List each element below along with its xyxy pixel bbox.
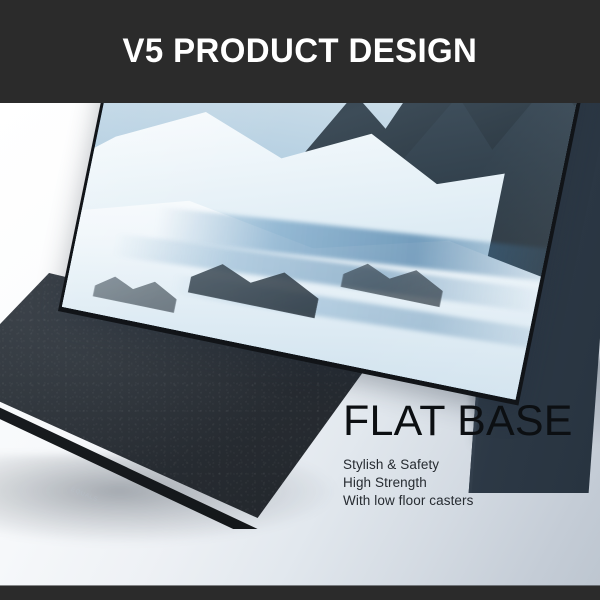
product-banner-page: V5 PRODUCT DESIGN EQUALS (0, 0, 600, 600)
feature-item-3: With low floor casters (343, 492, 583, 510)
header-banner: V5 PRODUCT DESIGN (0, 0, 600, 103)
feature-callout: FLAT BASE Stylish & Safety High Strength… (343, 400, 583, 510)
feature-headline: FLAT BASE (343, 400, 583, 443)
product-photo: EQUALS FLAT BASE (0, 103, 600, 586)
feature-item-2: High Strength (343, 474, 583, 492)
footer-strip (0, 586, 600, 600)
page-title: V5 PRODUCT DESIGN (123, 32, 478, 71)
feature-item-1: Stylish & Safety (343, 456, 583, 474)
feature-list: Stylish & Safety High Strength With low … (343, 456, 583, 510)
